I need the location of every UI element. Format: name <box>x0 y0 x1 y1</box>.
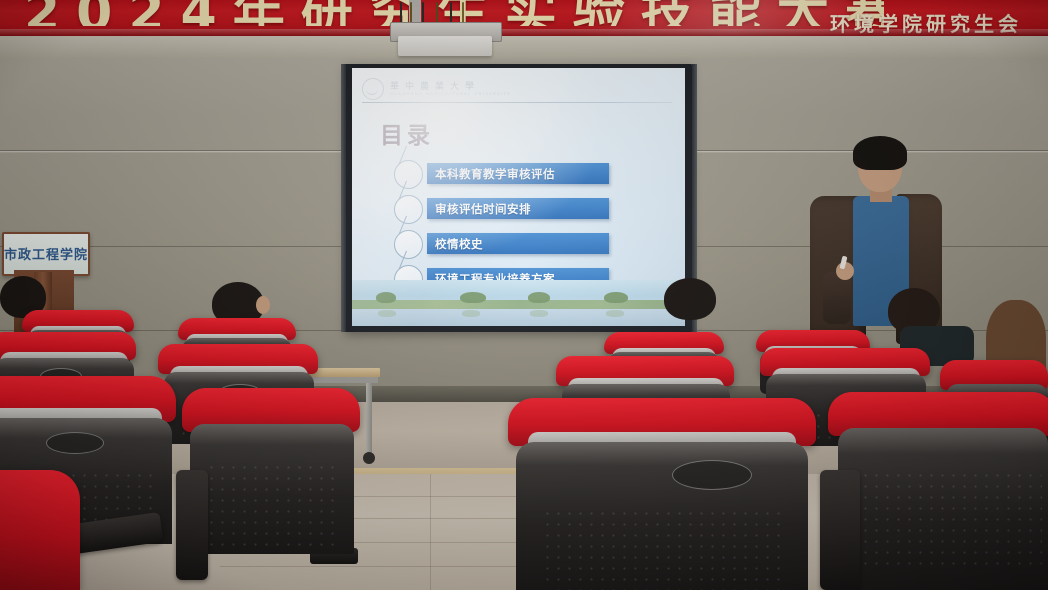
agenda-bullet-circle <box>394 195 423 224</box>
agenda-bullet-circle <box>394 230 423 259</box>
photo-tree <box>604 292 628 303</box>
projection-screen: 華中農業大學 HUAZHONG AGRICULTURAL UNIVERSITY … <box>352 68 685 326</box>
photo-tree <box>460 292 486 303</box>
audience-head <box>664 278 716 320</box>
slide-title: 目录 <box>380 116 434 150</box>
photo-reflection <box>530 310 548 317</box>
agenda-item: 本科教育教学审核评估 <box>394 158 644 193</box>
floor-plank-joint <box>430 474 431 590</box>
slide-footer-photo <box>352 280 685 326</box>
lecture-hall-photo: 2024年研究生实验技能大赛 环境学院研究生会 華中農業大學 HUAZHONG … <box>0 0 1048 590</box>
university-name: 華中農業大學 <box>390 79 480 92</box>
seat-perforation <box>542 508 786 590</box>
side-table-leg <box>366 383 372 455</box>
audience-face <box>256 296 270 314</box>
seat-perforation <box>860 470 1042 570</box>
agenda-bullet-circle <box>394 160 423 189</box>
presenter-hair <box>853 136 907 170</box>
photo-tree <box>528 292 550 303</box>
agenda-bar: 本科教育教学审核评估 <box>427 163 609 184</box>
projector-lens-housing <box>398 36 492 56</box>
seat-emblem <box>672 460 752 490</box>
slide-header-rule <box>362 102 672 103</box>
screen-left-edge <box>341 64 346 332</box>
agenda-item: 校情校史 <box>394 228 644 263</box>
photo-reflection <box>606 310 624 317</box>
lectern-sign-text: 市政工程学院 <box>4 244 88 263</box>
agenda-bar: 校情校史 <box>427 233 609 254</box>
seat-armrest <box>176 470 208 580</box>
agenda-item-label: 校情校史 <box>435 236 483 252</box>
agenda-bar: 审核评估时间安排 <box>427 198 609 219</box>
agenda-list: 本科教育教学审核评估 审核评估时间安排 校情校史 <box>394 158 644 298</box>
university-name-en: HUAZHONG AGRICULTURAL UNIVERSITY <box>390 92 511 96</box>
banner-sub-text: 环境学院研究生会 <box>830 8 1022 36</box>
event-banner: 2024年研究生实验技能大赛 环境学院研究生会 <box>0 0 1048 36</box>
agenda-item-label: 审核评估时间安排 <box>435 201 531 217</box>
agenda-item-label: 本科教育教学审核评估 <box>435 166 555 182</box>
agenda-item: 审核评估时间安排 <box>394 193 644 228</box>
seat-emblem <box>46 432 104 454</box>
photo-reflection <box>462 310 480 317</box>
photo-reflection <box>378 310 396 317</box>
seat-armrest <box>820 470 860 590</box>
seat-perforation <box>206 462 342 546</box>
university-logo-icon <box>362 78 384 100</box>
table-caster <box>363 452 375 464</box>
seat-side-cushion <box>0 470 80 590</box>
photo-treeline <box>352 300 685 309</box>
photo-tree <box>376 292 396 303</box>
wall-upper-band <box>0 36 1048 58</box>
